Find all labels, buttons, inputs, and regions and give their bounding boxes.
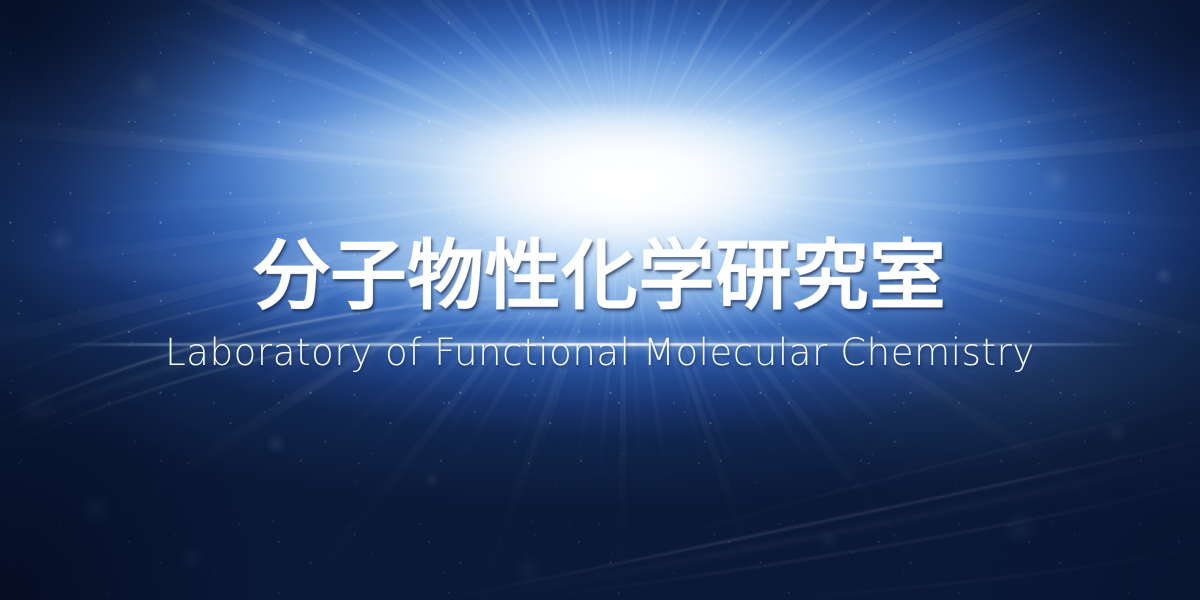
page-title-japanese: 分子物性化学研究室 — [0, 236, 1200, 317]
hero-banner: 分子物性化学研究室 Laboratory of Functional Molec… — [0, 0, 1200, 600]
banner-title-block: 分子物性化学研究室 Laboratory of Functional Molec… — [0, 236, 1200, 373]
page-subtitle-english: Laboratory of Functional Molecular Chemi… — [0, 333, 1200, 374]
